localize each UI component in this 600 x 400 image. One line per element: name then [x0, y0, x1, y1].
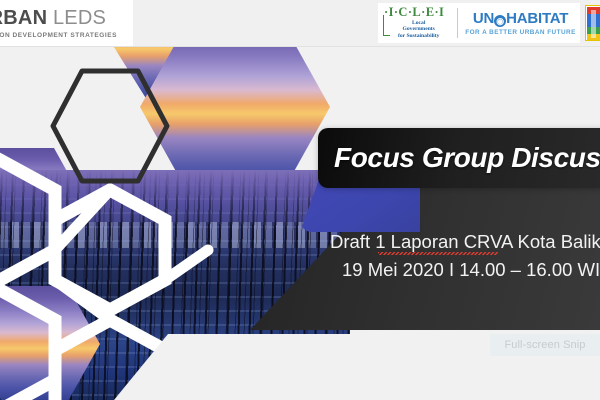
urban-leds-logo: URBAN LEDS EMISSION DEVELOPMENT STRATEGI…	[0, 0, 133, 46]
slide-title: Focus Group Discussion	[318, 142, 600, 174]
un-habitat-wordmark: UN◉HABITAT	[473, 11, 568, 27]
globe-icon: ◉	[494, 15, 506, 27]
urban-leds-bold: URBAN	[0, 7, 47, 29]
full-screen-snip-overlay[interactable]: Full-screen Snip	[490, 334, 600, 356]
urban-leds-tagline: EMISSION DEVELOPMENT STRATEGIES	[0, 32, 133, 39]
slide-header: URBAN LEDS EMISSION DEVELOPMENT STRATEGI…	[0, 0, 600, 47]
un-habitat-tagline: FOR A BETTER URBAN FUTURE	[465, 29, 576, 36]
iclei-logo: ·I·C·L·E·I LocalGovernmentsfor Sustainab…	[382, 4, 450, 42]
un-habitat-prefix: UN	[473, 10, 494, 27]
dark-hexagon-outline	[50, 68, 170, 184]
partial-logo-right-edge	[585, 5, 600, 41]
subtitle-line-topic: Draft 1 Laporan CRVA Kota Balikpapan	[330, 228, 600, 256]
urban-leds-light: LEDS	[47, 7, 106, 29]
iclei-tagline-line1: Local	[412, 20, 425, 26]
iclei-wordmark: ·I·C·L·E·I	[384, 6, 444, 19]
iclei-tagline-line2: Governments	[403, 26, 435, 32]
spellcheck-squiggle	[378, 252, 498, 255]
full-screen-snip-label: Full-screen Snip	[504, 339, 585, 351]
subtitle-topic-text: Draft 1 Laporan CRVA Kota Balikpapan	[330, 231, 600, 252]
partner-logos: ·I·C·L·E·I LocalGovernmentsfor Sustainab…	[378, 3, 580, 43]
un-habitat-suffix: HABITAT	[506, 10, 568, 27]
logo-divider	[457, 8, 458, 38]
subtitle-line-datetime: 19 Mei 2020 I 14.00 – 16.00 WITA	[330, 256, 600, 284]
presentation-slide: Focus Group Discussion Draft 1 Laporan C…	[0, 0, 600, 400]
logo-band-highlight	[591, 10, 596, 38]
iclei-tagline: LocalGovernmentsfor Sustainability	[384, 20, 439, 40]
iclei-tagline-line3: for Sustainability	[398, 33, 439, 39]
urban-leds-wordmark: URBAN LEDS	[0, 8, 133, 28]
slide-subtitle-block: Draft 1 Laporan CRVA Kota Balikpapan 19 …	[330, 228, 600, 284]
title-banner: Focus Group Discussion	[318, 128, 600, 188]
un-habitat-logo: UN◉HABITAT FOR A BETTER URBAN FUTURE	[465, 11, 576, 36]
